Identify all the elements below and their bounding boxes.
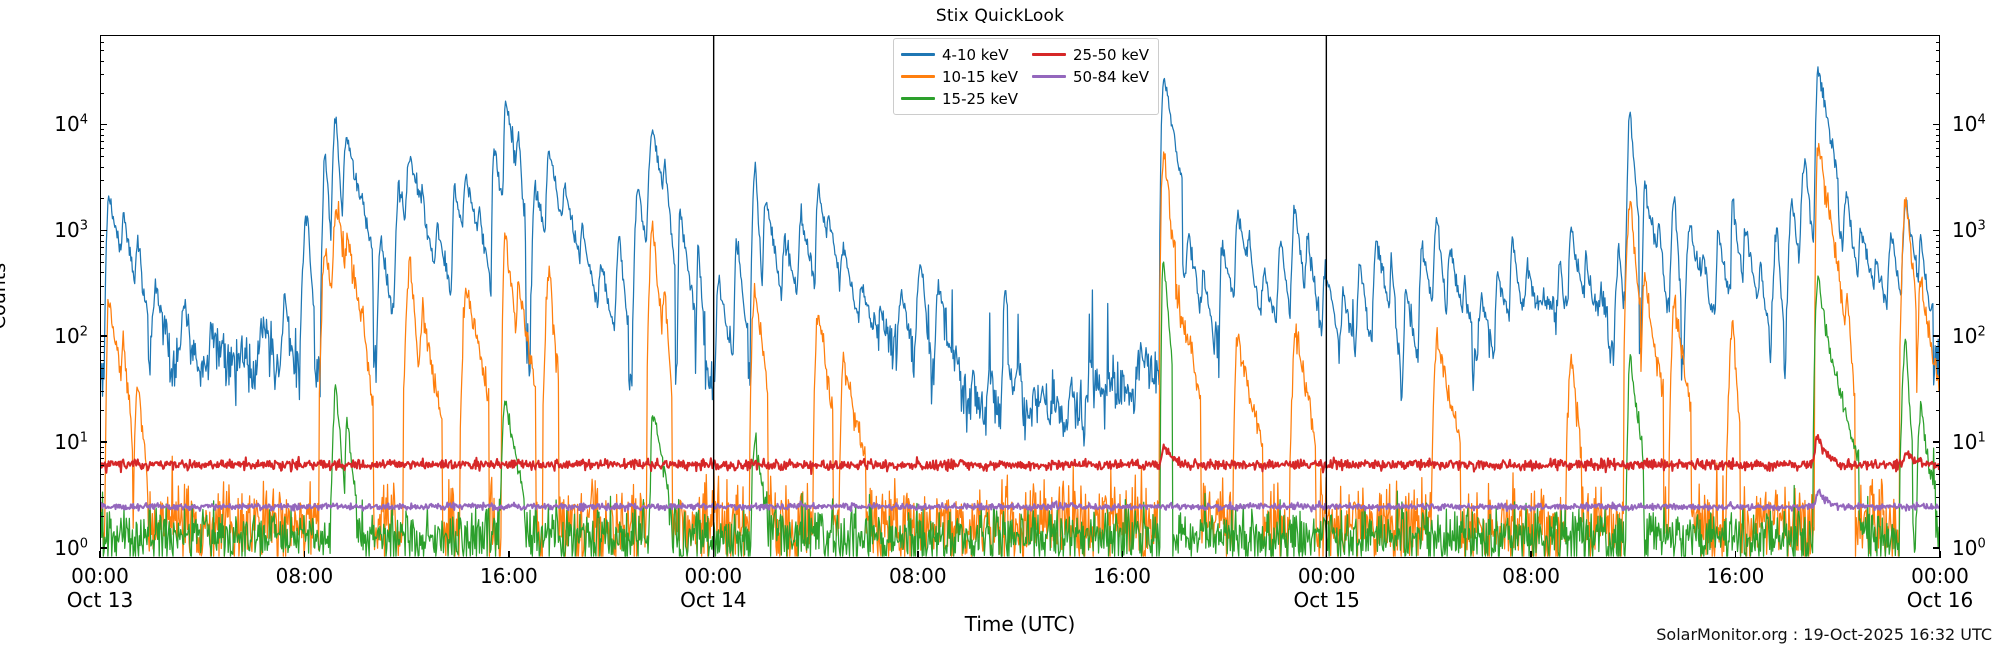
y-minor-tick xyxy=(1936,410,1940,411)
y-minor-tick xyxy=(100,235,104,236)
y-minor-tick xyxy=(1936,42,1940,43)
y-minor-tick xyxy=(1936,241,1940,242)
x-major-tick xyxy=(1939,551,1941,558)
y-minor-tick xyxy=(100,458,104,459)
y-minor-tick xyxy=(1936,458,1940,459)
y-minor-tick xyxy=(1936,148,1940,149)
y-minor-tick xyxy=(1936,254,1940,255)
y-tick-label: 102 xyxy=(30,324,88,348)
y-tick-label: 101 xyxy=(1952,430,1986,454)
y-minor-tick xyxy=(1936,391,1940,392)
y-minor-tick xyxy=(100,167,104,168)
y-minor-tick xyxy=(1936,378,1940,379)
x-tick-label: 00:00Oct 16 xyxy=(1907,564,1973,613)
legend[interactable]: 4-10 keV10-15 keV15-25 keV25-50 keV50-84… xyxy=(893,38,1159,115)
x-tick-label: 08:00 xyxy=(1502,564,1560,588)
x-tick-label: 00:00Oct 13 xyxy=(67,564,133,613)
y-major-tick xyxy=(100,335,107,337)
y-minor-tick xyxy=(1936,61,1940,62)
y-minor-tick xyxy=(100,93,104,94)
legend-item[interactable]: 10-15 keV xyxy=(901,66,1018,87)
y-minor-tick xyxy=(1936,272,1940,273)
y-major-tick xyxy=(1933,124,1940,126)
y-minor-tick xyxy=(1936,304,1940,305)
y-tick-label: 103 xyxy=(1952,218,1986,242)
y-minor-tick xyxy=(1936,474,1940,475)
legend-item[interactable]: 50-84 keV xyxy=(1032,66,1149,87)
y-tick-label: 103 xyxy=(30,218,88,242)
legend-label: 10-15 keV xyxy=(942,68,1018,86)
y-minor-tick xyxy=(100,368,104,369)
y-minor-tick xyxy=(100,352,104,353)
y-minor-tick xyxy=(1936,167,1940,168)
legend-label: 25-50 keV xyxy=(1073,46,1149,64)
y-minor-tick xyxy=(100,198,104,199)
y-minor-tick xyxy=(1936,180,1940,181)
x-tick-label: 16:00 xyxy=(1707,564,1765,588)
x-tick-label: 08:00 xyxy=(276,564,334,588)
y-minor-tick xyxy=(1936,447,1940,448)
y-minor-tick xyxy=(1936,360,1940,361)
legend-item[interactable]: 25-50 keV xyxy=(1032,44,1149,65)
x-major-tick xyxy=(713,551,715,558)
y-minor-tick xyxy=(100,74,104,75)
y-minor-tick xyxy=(1936,346,1940,347)
y-minor-tick xyxy=(1936,352,1940,353)
y-minor-tick xyxy=(100,35,104,36)
legend-column-2: 25-50 keV50-84 keV xyxy=(1032,44,1149,109)
y-minor-tick xyxy=(1936,465,1940,466)
y-minor-tick xyxy=(100,452,104,453)
y-minor-tick xyxy=(1936,368,1940,369)
y-minor-tick xyxy=(1936,156,1940,157)
y-tick-label: 101 xyxy=(30,430,88,454)
y-minor-tick xyxy=(100,360,104,361)
y-minor-tick xyxy=(100,286,104,287)
y-minor-tick xyxy=(100,129,104,130)
y-axis-label: Counts xyxy=(0,263,10,329)
y-minor-tick xyxy=(1936,198,1940,199)
y-minor-tick xyxy=(1936,74,1940,75)
y-tick-label: 104 xyxy=(30,112,88,136)
y-minor-tick xyxy=(100,241,104,242)
y-minor-tick xyxy=(1936,484,1940,485)
y-minor-tick xyxy=(100,135,104,136)
x-tick-label: 08:00 xyxy=(889,564,947,588)
legend-line-swatch xyxy=(901,97,935,100)
legend-label: 4-10 keV xyxy=(942,46,1008,64)
y-minor-tick xyxy=(1936,516,1940,517)
watermark: SolarMonitor.org : 19-Oct-2025 16:32 UTC xyxy=(1656,625,1992,644)
legend-line-swatch xyxy=(1032,75,1066,78)
y-major-tick xyxy=(1933,230,1940,232)
y-minor-tick xyxy=(100,180,104,181)
y-minor-tick xyxy=(1936,497,1940,498)
y-major-tick xyxy=(100,441,107,443)
y-major-tick xyxy=(100,547,107,549)
figure: Stix QuickLook Counts 100101102103104 10… xyxy=(0,0,2000,650)
legend-item[interactable]: 15-25 keV xyxy=(901,88,1018,109)
x-major-tick xyxy=(304,551,306,558)
y-minor-tick xyxy=(100,262,104,263)
y-minor-tick xyxy=(100,378,104,379)
y-tick-label: 104 xyxy=(1952,112,1986,136)
y-minor-tick xyxy=(100,410,104,411)
y-major-tick xyxy=(100,230,107,232)
y-minor-tick xyxy=(100,272,104,273)
y-tick-label: 100 xyxy=(1952,536,1986,560)
y-minor-tick xyxy=(1936,247,1940,248)
y-minor-tick xyxy=(100,346,104,347)
legend-line-swatch xyxy=(901,75,935,78)
chart-title: Stix QuickLook xyxy=(0,6,2000,26)
y-minor-tick xyxy=(1936,141,1940,142)
y-minor-tick xyxy=(1936,286,1940,287)
y-minor-tick xyxy=(100,465,104,466)
x-major-tick xyxy=(99,551,101,558)
y-minor-tick xyxy=(1936,50,1940,51)
y-minor-tick xyxy=(100,304,104,305)
y-minor-tick xyxy=(100,141,104,142)
y-minor-tick xyxy=(100,474,104,475)
y-minor-tick xyxy=(1936,129,1940,130)
x-major-tick xyxy=(508,551,510,558)
legend-line-swatch xyxy=(901,53,935,56)
y-minor-tick xyxy=(100,42,104,43)
x-major-tick xyxy=(917,551,919,558)
y-minor-tick xyxy=(100,254,104,255)
y-tick-label: 100 xyxy=(30,536,88,560)
y-minor-tick xyxy=(1936,262,1940,263)
y-major-tick xyxy=(1933,441,1940,443)
x-tick-label: 00:00Oct 14 xyxy=(680,564,746,613)
legend-column-1: 4-10 keV10-15 keV15-25 keV xyxy=(901,44,1018,109)
y-major-tick xyxy=(1933,335,1940,337)
y-minor-tick xyxy=(1936,135,1940,136)
x-tick-label: 16:00 xyxy=(1093,564,1151,588)
y-minor-tick xyxy=(100,341,104,342)
legend-label: 15-25 keV xyxy=(942,90,1018,108)
y-minor-tick xyxy=(100,247,104,248)
y-minor-tick xyxy=(100,391,104,392)
x-tick-label: 00:00Oct 15 xyxy=(1293,564,1359,613)
y-minor-tick xyxy=(1936,452,1940,453)
legend-item[interactable]: 4-10 keV xyxy=(901,44,1018,65)
legend-label: 50-84 keV xyxy=(1073,68,1149,86)
y-minor-tick xyxy=(100,447,104,448)
x-major-tick xyxy=(1326,551,1328,558)
y-minor-tick xyxy=(1936,235,1940,236)
y-minor-tick xyxy=(100,148,104,149)
y-major-tick xyxy=(1933,547,1940,549)
y-minor-tick xyxy=(100,50,104,51)
x-major-tick xyxy=(1530,551,1532,558)
y-minor-tick xyxy=(100,516,104,517)
y-minor-tick xyxy=(100,61,104,62)
y-minor-tick xyxy=(100,156,104,157)
y-minor-tick xyxy=(100,484,104,485)
x-tick-label: 16:00 xyxy=(480,564,538,588)
y-minor-tick xyxy=(1936,341,1940,342)
x-major-tick xyxy=(1735,551,1737,558)
y-major-tick xyxy=(100,124,107,126)
y-tick-label: 102 xyxy=(1952,324,1986,348)
y-minor-tick xyxy=(1936,35,1940,36)
y-minor-tick xyxy=(1936,93,1940,94)
x-major-tick xyxy=(1122,551,1124,558)
legend-line-swatch xyxy=(1032,53,1066,56)
y-minor-tick xyxy=(100,497,104,498)
